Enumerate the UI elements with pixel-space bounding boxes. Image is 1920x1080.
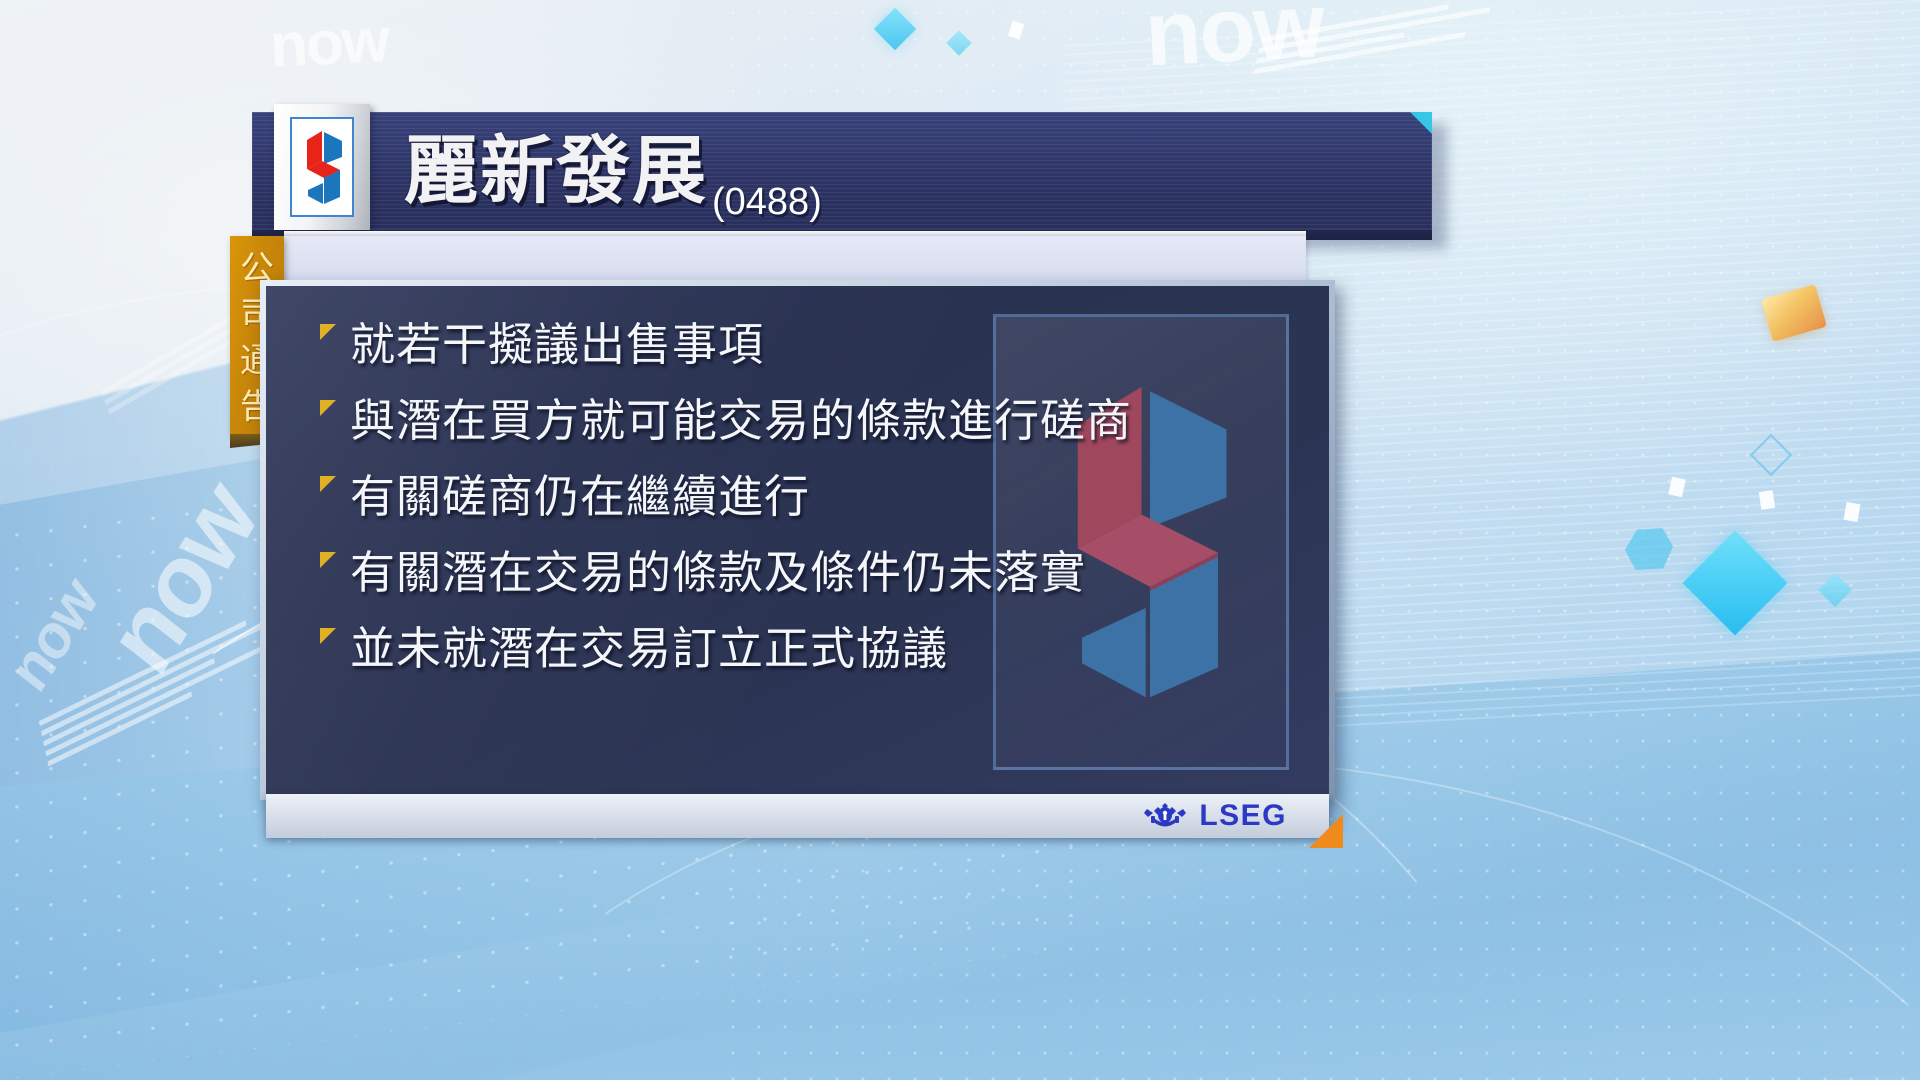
company-logo-plate <box>274 104 370 230</box>
page-title: 麗新發展 <box>404 134 708 208</box>
gold-flag-bullet-icon <box>320 400 336 416</box>
lseg-crest-icon <box>1141 800 1189 832</box>
footer-accent-corner-icon <box>1309 814 1343 848</box>
list-item: 與潛在買方就可能交易的條款進行磋商 <box>320 390 1170 452</box>
s-logo-svg <box>299 127 345 207</box>
stock-announcement-card: 麗新發展 (0488) 公 司 通 告 <box>252 112 1612 852</box>
list-item: 有關磋商仍在繼續進行 <box>320 466 1170 528</box>
gold-flag-bullet-icon <box>320 628 336 644</box>
header-accent-corner-icon <box>1410 112 1432 134</box>
list-item: 就若干擬議出售事項 <box>320 314 1170 376</box>
list-item: 有關潛在交易的條款及條件仍未落實 <box>320 542 1170 604</box>
white-chip-2 <box>1759 490 1775 510</box>
bullet-text: 與潛在買方就可能交易的條款進行磋商 <box>350 390 1132 452</box>
lseg-logo: LSEG <box>1141 799 1287 833</box>
bullet-text: 有關磋商仍在繼續進行 <box>350 466 810 528</box>
lseg-wordmark: LSEG <box>1199 799 1287 833</box>
gold-flag-bullet-icon <box>320 324 336 340</box>
bullet-text: 就若干擬議出售事項 <box>350 314 764 376</box>
bullet-text: 有關潛在交易的條款及條件仍未落實 <box>350 542 1086 604</box>
list-item: 並未就潛在交易訂立正式協議 <box>320 618 1170 680</box>
announcement-bullet-list: 就若干擬議出售事項 與潛在買方就可能交易的條款進行磋商 有關磋商仍在繼續進行 有… <box>320 314 1170 694</box>
stock-code: (0488) <box>712 181 822 230</box>
company-s-logo-icon <box>290 117 354 217</box>
gold-flag-bullet-icon <box>320 552 336 568</box>
data-provider-footer: LSEG <box>266 794 1329 838</box>
bullet-text: 並未就潛在交易訂立正式協議 <box>350 618 948 680</box>
gold-flag-bullet-icon <box>320 476 336 492</box>
content-panel: 就若干擬議出售事項 與潛在買方就可能交易的條款進行磋商 有關磋商仍在繼續進行 有… <box>266 286 1329 794</box>
now-watermark-top-left: now <box>268 5 390 82</box>
header-title-group: 麗新發展 (0488) <box>404 112 822 230</box>
